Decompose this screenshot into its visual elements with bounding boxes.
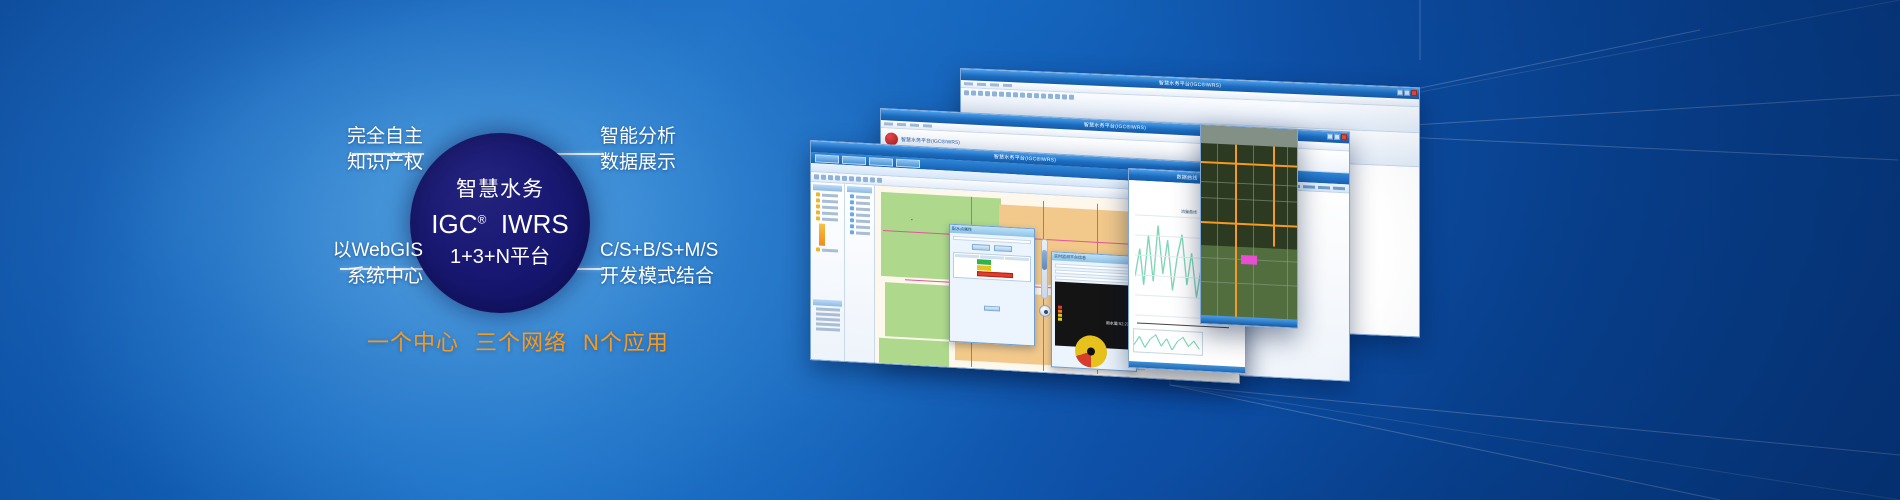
window-title: 智慧水务平台(IGC®IWRS) — [1159, 79, 1221, 89]
window-controls[interactable] — [1397, 89, 1417, 96]
feature-label-bottom-left-line2: 系统中心 — [290, 264, 423, 290]
nav-item[interactable] — [896, 158, 920, 167]
core-code-second: IWRS — [501, 209, 569, 239]
feature-label-bottom-left: 以WebGIS 系统中心 — [290, 238, 423, 290]
subbar-link[interactable] — [1318, 185, 1330, 189]
feature-label-top-right-line1: 智能分析 — [600, 126, 676, 147]
dialog-content: 用水量:52.23 — [1052, 260, 1136, 353]
tool-item[interactable] — [850, 230, 872, 235]
layer-tree-item[interactable] — [816, 247, 842, 252]
layer-tree-item[interactable] — [816, 216, 842, 221]
feature-label-bottom-right: C/S+B/S+M/S 开发模式结合 — [600, 238, 718, 290]
minimize-icon[interactable] — [1397, 89, 1403, 95]
status-swatch-red — [977, 271, 1013, 278]
core-subtitle: 1+3+N平台 — [450, 247, 550, 267]
attribute-row — [816, 322, 842, 326]
registered-mark-icon: ® — [478, 212, 487, 226]
dialog-delete-button[interactable] — [994, 245, 1012, 252]
screenshot-stack: 智慧水务平台(IGC®IWRS) — [780, 0, 1900, 500]
donut-chart — [1075, 335, 1107, 369]
map-pan-control[interactable] — [1039, 305, 1051, 318]
layer-tree-item[interactable] — [816, 210, 842, 215]
layer-tree-item[interactable] — [816, 204, 842, 209]
tool-item[interactable] — [850, 206, 872, 211]
dialog-query-button[interactable] — [972, 244, 990, 251]
dialog-realtime-monitor[interactable]: 实时监测平台信息 — [1051, 251, 1137, 372]
panel-header — [813, 184, 842, 192]
feature-label-bottom-right-line2: 开发模式结合 — [600, 264, 718, 290]
tool-icon — [850, 230, 854, 234]
tool-list-panel[interactable] — [845, 184, 875, 384]
tagline-part-3: N个应用 — [583, 330, 669, 355]
layer-tree-panel[interactable] — [811, 182, 845, 384]
tool-item[interactable] — [850, 212, 872, 217]
map-scrollbar[interactable] — [1041, 239, 1048, 299]
subbar-link[interactable] — [1333, 186, 1345, 190]
nav-item[interactable] — [842, 155, 866, 164]
donut-legend — [1058, 306, 1062, 322]
feature-label-top-left-line1: 完全自主 — [347, 126, 423, 147]
satellite-map-canvas[interactable] — [1201, 125, 1297, 328]
tool-icon — [850, 224, 854, 228]
tool-icon — [850, 194, 854, 198]
feature-label-top-left-line2: 知识产权 — [303, 150, 423, 176]
layer-icon — [816, 210, 820, 214]
feature-label-top-left: 完全自主 知识产权 — [303, 124, 423, 176]
close-icon[interactable] — [1411, 90, 1417, 96]
dialog-ok-button[interactable] — [984, 306, 1000, 312]
tool-item[interactable] — [850, 218, 872, 223]
tool-item[interactable] — [850, 194, 872, 199]
dialog-feature-attributes[interactable]: 配水点属性 — [949, 224, 1035, 347]
core-badge: 智慧水务 IGC® IWRS 1+3+N平台 — [410, 133, 590, 313]
legend-gradient — [819, 223, 825, 245]
layer-icon — [816, 216, 820, 220]
concept-diagram: 智慧水务 IGC® IWRS 1+3+N平台 完全自主 知识产权 以WebGIS… — [0, 0, 800, 500]
nav-item[interactable] — [815, 154, 839, 163]
tagline-part-1: 一个中心 — [367, 330, 459, 355]
core-code-main: IGC — [431, 209, 477, 239]
layer-tree-item[interactable] — [816, 198, 842, 203]
donut-chart-panel: 用水量:52.23 — [1055, 281, 1133, 349]
core-title: 智慧水务 — [456, 179, 544, 200]
panel-header — [847, 186, 872, 193]
chart-title: 流量曲线 — [1181, 209, 1197, 216]
tool-icon — [850, 218, 854, 222]
panel-header — [813, 299, 842, 307]
tagline-part-2: 三个网络 — [475, 330, 567, 355]
minimize-icon[interactable] — [1327, 133, 1333, 139]
attribute-row — [816, 327, 842, 331]
tool-item[interactable] — [850, 224, 872, 229]
dialog-content — [950, 233, 1034, 317]
layer-icon — [816, 192, 820, 196]
tagline: 一个中心三个网络N个应用 — [367, 325, 669, 357]
feature-label-bottom-right-line1: C/S+B/S+M/S — [600, 240, 718, 261]
window-satellite-map[interactable] — [1200, 124, 1298, 329]
layer-icon — [816, 204, 820, 208]
mini-chart — [1133, 328, 1203, 356]
subbar-link[interactable] — [1303, 185, 1315, 189]
layer-icon — [816, 198, 820, 202]
window-title: 智慧水务平台(IGC®IWRS) — [1084, 121, 1146, 131]
tool-icon — [850, 206, 854, 210]
feature-label-top-right: 智能分析 数据展示 — [600, 124, 676, 176]
feature-label-top-right-line2: 数据展示 — [600, 150, 676, 176]
maximize-icon[interactable] — [1404, 90, 1410, 96]
close-icon[interactable] — [1341, 134, 1347, 140]
result-table — [953, 252, 1031, 282]
window-controls[interactable] — [1327, 133, 1347, 140]
maximize-icon[interactable] — [1334, 134, 1340, 140]
attribute-row — [816, 317, 842, 321]
attribute-row — [816, 307, 842, 311]
status-swatch-green — [977, 259, 991, 265]
dialog-title: 配水点属性 — [952, 226, 972, 233]
attribute-row — [816, 312, 842, 316]
status-swatch-yellow — [977, 265, 991, 271]
window-title: 智慧水务平台(IGC®IWRS) — [994, 153, 1056, 163]
layer-icon — [816, 247, 820, 251]
tool-item[interactable] — [850, 200, 872, 205]
nav-item[interactable] — [869, 157, 893, 166]
core-product-code: IGC® IWRS — [431, 211, 568, 237]
tool-icon — [850, 212, 854, 216]
layer-tree-item[interactable] — [816, 192, 842, 197]
banner-hero: 智慧水务 IGC® IWRS 1+3+N平台 完全自主 知识产权 以WebGIS… — [0, 0, 1900, 500]
feature-label-bottom-left-line1: 以WebGIS — [333, 240, 423, 261]
donut-value-label: 用水量:52.23 — [1106, 320, 1129, 327]
tool-icon — [850, 200, 854, 204]
window-title: 数据曲线 — [1177, 174, 1198, 182]
